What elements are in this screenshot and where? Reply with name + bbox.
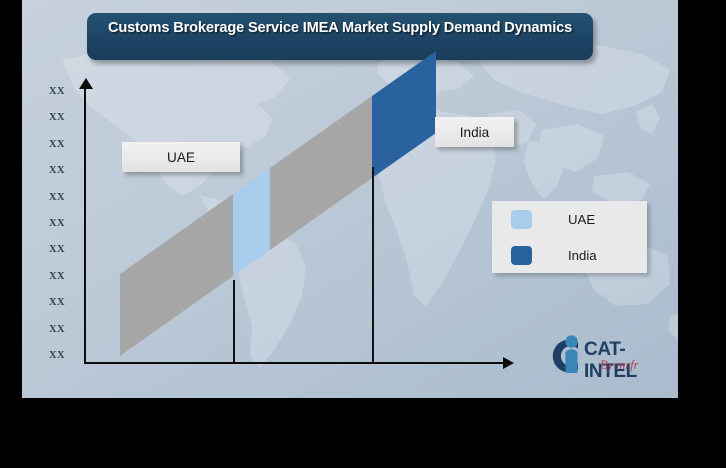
cat-intel-logo: CAT-INTEL By mrfr <box>544 330 669 382</box>
legend-swatch-uae <box>511 210 532 229</box>
callout-uae-label: UAE <box>167 150 195 165</box>
title-banner: Customs Brokerage Service IMEA Market Su… <box>87 13 593 60</box>
page-title: Customs Brokerage Service IMEA Market Su… <box>87 20 593 36</box>
ramp-segment-uae <box>233 168 270 276</box>
callout-india[interactable]: India <box>435 117 514 147</box>
y-axis-tick-8: XX <box>38 297 76 308</box>
y-axis-tick-7: XX <box>38 271 76 282</box>
y-axis-line <box>84 86 86 364</box>
x-axis-arrow-icon <box>503 357 514 369</box>
y-axis-arrow-icon <box>79 78 93 89</box>
legend-item-uae[interactable]: UAE <box>492 201 647 237</box>
y-axis-tick-9: XX <box>38 324 76 335</box>
y-axis-tick-labels: XXXXXXXXXXXXXXXXXXXXXX <box>38 86 76 364</box>
ramp-segment-india <box>372 51 436 178</box>
callout-uae[interactable]: UAE <box>122 142 240 172</box>
legend-item-india[interactable]: India <box>492 237 647 273</box>
callout-india-label: India <box>460 125 489 140</box>
y-axis-tick-5: XX <box>38 218 76 229</box>
y-axis-tick-2: XX <box>38 139 76 150</box>
y-axis-tick-3: XX <box>38 165 76 176</box>
divider-line-india <box>372 167 374 362</box>
logo-byline: By mrfr <box>600 358 639 373</box>
x-axis-line <box>84 362 506 364</box>
legend-swatch-india <box>511 246 532 265</box>
y-axis-tick-6: XX <box>38 244 76 255</box>
divider-line-uae <box>233 280 235 362</box>
legend-label-uae: UAE <box>568 212 595 227</box>
ramp-segment-gray-middle <box>270 96 372 250</box>
y-axis-tick-1: XX <box>38 112 76 123</box>
ramp-segment-gray-left <box>120 194 233 356</box>
logo-mark-icon <box>544 332 588 380</box>
slide-canvas: Customs Brokerage Service IMEA Market Su… <box>22 0 678 398</box>
y-axis-tick-4: XX <box>38 192 76 203</box>
y-axis-tick-10: XX <box>38 350 76 361</box>
chart-legend: UAEIndia <box>492 201 647 273</box>
legend-label-india: India <box>568 248 597 263</box>
y-axis-tick-0: XX <box>38 86 76 97</box>
